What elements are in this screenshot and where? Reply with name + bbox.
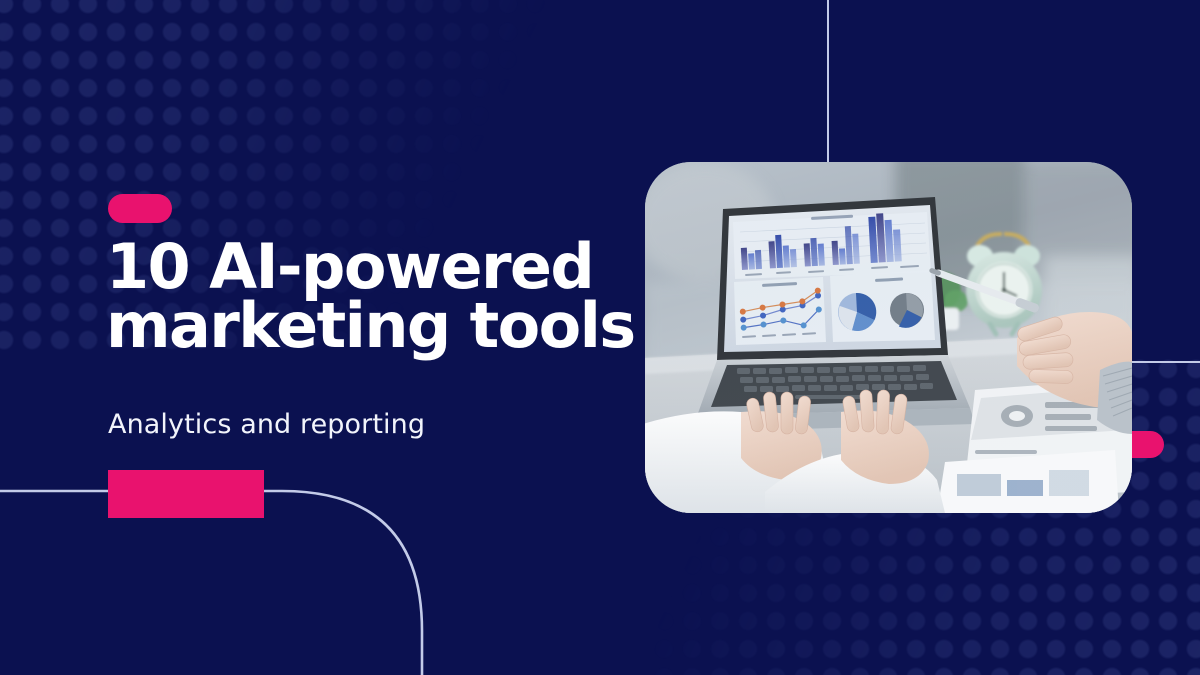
vertical-rule-top <box>827 0 829 166</box>
pink-block-accent-left <box>108 470 264 518</box>
page-title: 10 AI-powered marketing tools <box>106 238 686 356</box>
slide-canvas: 10 AI-powered marketing tools Analytics … <box>0 0 1200 675</box>
hero-photo <box>645 162 1132 513</box>
hero-photo-card <box>645 162 1132 513</box>
pink-pill-accent-top <box>108 194 172 223</box>
page-subtitle: Analytics and reporting <box>108 409 628 440</box>
horizontal-rule-right <box>1128 361 1200 363</box>
